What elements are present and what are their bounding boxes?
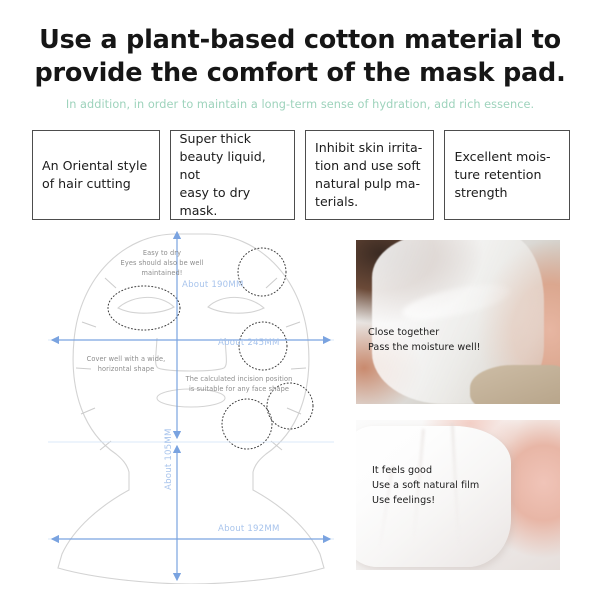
sheet-backing-corner [470, 365, 560, 404]
feature-box-3-label: Inhibit skin irrita- tion and use soft n… [315, 139, 422, 211]
feature-box-3: Inhibit skin irrita- tion and use soft n… [305, 130, 434, 220]
note-incision: The calculated incision position is suit… [158, 374, 320, 394]
dimension-label-width-bottom: About 192MM [218, 524, 280, 534]
photo-hydrogel-sheet: Close together Pass the moisture well! [356, 240, 560, 404]
note-cover: Cover well with a wide, horizontal shape [56, 354, 196, 374]
dimension-label-width-upper: About 190MM [182, 280, 244, 290]
page-title: Use a plant-based cotton material to pro… [30, 24, 570, 90]
callout-notch-top [238, 248, 286, 296]
right-eye-cutout [208, 297, 264, 313]
feature-box-row: An Oriental style of hair cutting Super … [32, 130, 570, 220]
mask-dimension-diagram: About 190MM About 245MM About 105MM Abou… [30, 228, 352, 584]
photo-bottom-caption: It feels good Use a soft natural film Us… [372, 464, 479, 509]
callout-notch-low-a [222, 399, 272, 449]
photo-top-caption: Close together Pass the moisture well! [368, 326, 481, 356]
feature-box-2-label: Super thick beauty liquid, not easy to d… [180, 130, 286, 219]
dimension-label-height-lower: About 105MM [164, 428, 174, 490]
note-eyes: Easy to dry Eyes should also be well mai… [92, 248, 232, 279]
photo-cotton-film: It feels good Use a soft natural film Us… [356, 420, 560, 570]
left-eye-cutout [118, 297, 174, 313]
feature-box-4-label: Excellent mois- ture retention strength [454, 148, 550, 202]
feature-box-1-label: An Oriental style of hair cutting [42, 157, 147, 193]
page-subtitle: In addition, in order to maintain a long… [30, 98, 570, 111]
feature-box-2: Super thick beauty liquid, not easy to d… [170, 130, 296, 220]
feature-box-1: An Oriental style of hair cutting [32, 130, 160, 220]
feature-box-4: Excellent mois- ture retention strength [444, 130, 570, 220]
dimension-label-width-middle: About 245MM [218, 338, 280, 348]
